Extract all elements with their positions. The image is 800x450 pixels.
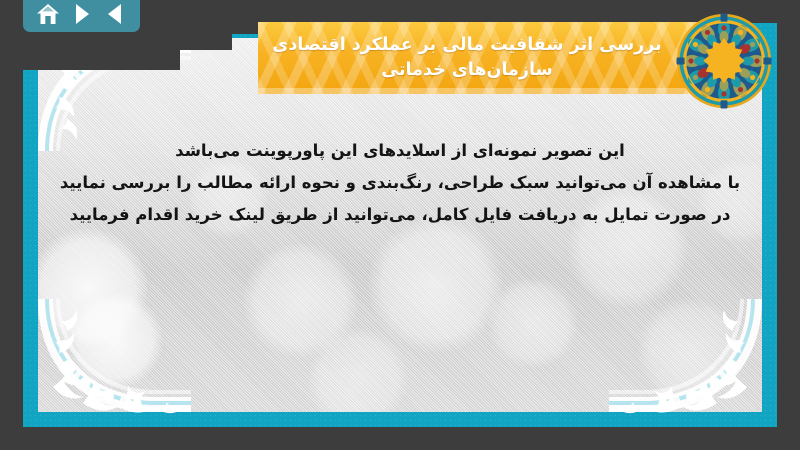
home-icon (36, 3, 60, 26)
bokeh-circle (68, 293, 163, 388)
body-line: در صورت تمایل به دریافت فایل کامل، می‌تو… (53, 199, 747, 231)
bokeh-circle (368, 218, 503, 353)
next-slide-button[interactable] (68, 1, 96, 27)
bokeh-circle (638, 298, 743, 403)
title-banner: بررسی اثر شفافیت مالی بر عملکرد اقتصادی … (258, 22, 724, 94)
slide-body-text: این تصویر نمونه‌ای از اسلایدهای این پاور… (53, 135, 747, 232)
persian-medallion-icon (675, 12, 773, 110)
page-title: بررسی اثر شفافیت مالی بر عملکرد اقتصادی … (258, 33, 724, 84)
bokeh-circle (38, 228, 148, 348)
previous-slide-button[interactable] (101, 1, 129, 27)
body-line: با مشاهده آن می‌توانید سبک طراحی، رنگ‌بن… (53, 167, 747, 199)
slide-viewer: این تصویر نمونه‌ای از اسلایدهای این پاور… (0, 0, 800, 450)
bokeh-circle (488, 278, 578, 368)
title-line: سازمان‌های خدماتی (272, 58, 662, 83)
bokeh-circle (308, 328, 408, 412)
slide-navigation (23, 0, 140, 32)
body-line: این تصویر نمونه‌ای از اسلایدهای این پاور… (53, 135, 747, 167)
title-line: بررسی اثر شفافیت مالی بر عملکرد اقتصادی (272, 33, 662, 58)
right-triangle-icon (72, 3, 92, 25)
bokeh-circle (243, 243, 358, 358)
left-triangle-icon (105, 3, 125, 25)
home-button[interactable] (34, 1, 62, 27)
